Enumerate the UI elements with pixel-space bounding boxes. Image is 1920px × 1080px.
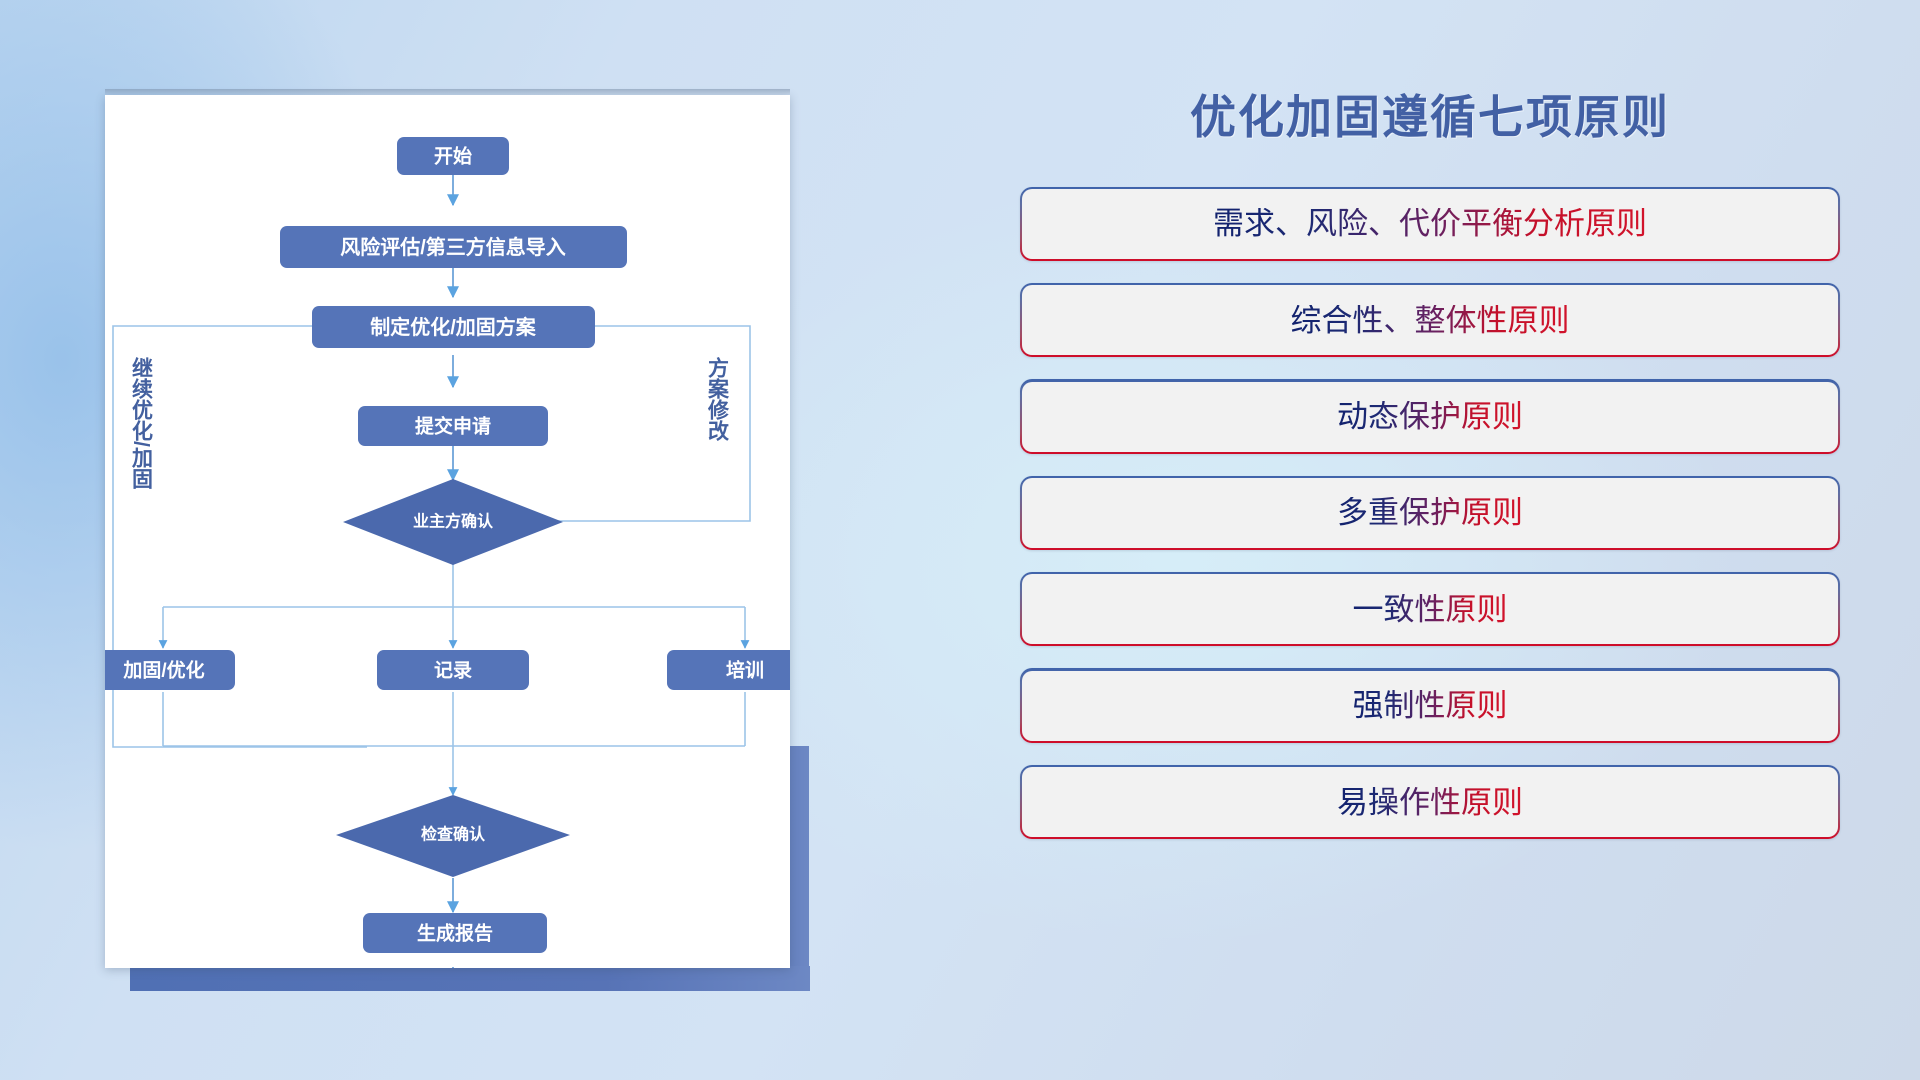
principle-inner: 动态保护原则 [1022, 382, 1838, 452]
flow-node-reinforce-label: 加固/优化 [122, 659, 204, 682]
flow-node-start[interactable]: 开始 [397, 137, 509, 175]
principle-item[interactable]: 需求、风险、代价平衡分析原则 [1020, 187, 1840, 261]
flow-node-train[interactable]: 培训 [667, 650, 790, 690]
principle-label: 综合性、整体性原则 [1291, 305, 1570, 336]
principle-inner: 易操作性原则 [1022, 767, 1838, 837]
slide-canvas: 开始 风险评估/第三方信息导入 制定优化/加固方案 提交申请 业主方确认 [0, 0, 1920, 1080]
principle-inner: 一致性原则 [1022, 574, 1838, 644]
flow-card-accent-bottom [130, 966, 810, 991]
flow-node-risk-label: 风险评估/第三方信息导入 [340, 235, 566, 259]
principle-label: 多重保护原则 [1337, 497, 1523, 528]
principle-item[interactable]: 易操作性原则 [1020, 765, 1840, 839]
principles-list: 需求、风险、代价平衡分析原则 综合性、整体性原则 动态保护原则 多重保护原则 [1020, 187, 1840, 840]
flow-node-owner-confirm-label: 业主方确认 [413, 512, 494, 531]
flow-node-check[interactable]: 检查确认 [336, 795, 570, 877]
flow-node-owner-confirm[interactable]: 业主方确认 [343, 479, 563, 565]
flow-node-train-label: 培训 [726, 659, 764, 682]
principles-title: 优化加固遵循七项原则 [1020, 92, 1840, 143]
flow-node-report-label: 生成报告 [417, 922, 493, 945]
flowchart-card: 开始 风险评估/第三方信息导入 制定优化/加固方案 提交申请 业主方确认 [105, 95, 790, 968]
flow-node-submit-label: 提交申请 [415, 415, 491, 438]
flowchart-svg: 开始 风险评估/第三方信息导入 制定优化/加固方案 提交申请 业主方确认 [105, 95, 790, 968]
principle-label: 易操作性原则 [1337, 787, 1523, 818]
flow-node-record[interactable]: 记录 [377, 650, 529, 690]
flow-node-check-label: 检查确认 [421, 825, 486, 844]
flow-node-plan-label: 制定优化/加固方案 [370, 315, 537, 339]
edge-label-plan-revise: 方案修改 [706, 356, 731, 442]
principle-label: 需求、风险、代价平衡分析原则 [1213, 208, 1647, 239]
flow-node-record-label: 记录 [434, 660, 472, 682]
flow-node-submit[interactable]: 提交申请 [358, 406, 548, 446]
flow-node-risk[interactable]: 风险评估/第三方信息导入 [280, 226, 627, 268]
flow-node-start-label: 开始 [434, 145, 472, 168]
flow-node-report[interactable]: 生成报告 [363, 913, 547, 953]
edge-label-continue-optimize: 继续优化/加固 [130, 356, 155, 489]
flow-node-plan[interactable]: 制定优化/加固方案 [312, 306, 595, 348]
principle-item[interactable]: 综合性、整体性原则 [1020, 283, 1840, 357]
principle-label: 动态保护原则 [1337, 401, 1523, 432]
flow-node-reinforce[interactable]: 加固/优化 [105, 650, 235, 690]
principle-inner: 需求、风险、代价平衡分析原则 [1022, 189, 1838, 259]
principle-inner: 综合性、整体性原则 [1022, 285, 1838, 355]
principle-item[interactable]: 一致性原则 [1020, 572, 1840, 646]
principles-panel: 优化加固遵循七项原则 需求、风险、代价平衡分析原则 综合性、整体性原则 动态保护… [1020, 92, 1840, 1012]
principle-inner: 多重保护原则 [1022, 478, 1838, 548]
principle-label: 强制性原则 [1353, 690, 1508, 721]
principle-item[interactable]: 强制性原则 [1020, 668, 1840, 742]
principle-item[interactable]: 多重保护原则 [1020, 476, 1840, 550]
principle-inner: 强制性原则 [1022, 671, 1838, 741]
principle-label: 一致性原则 [1353, 594, 1508, 625]
principle-item[interactable]: 动态保护原则 [1020, 379, 1840, 453]
